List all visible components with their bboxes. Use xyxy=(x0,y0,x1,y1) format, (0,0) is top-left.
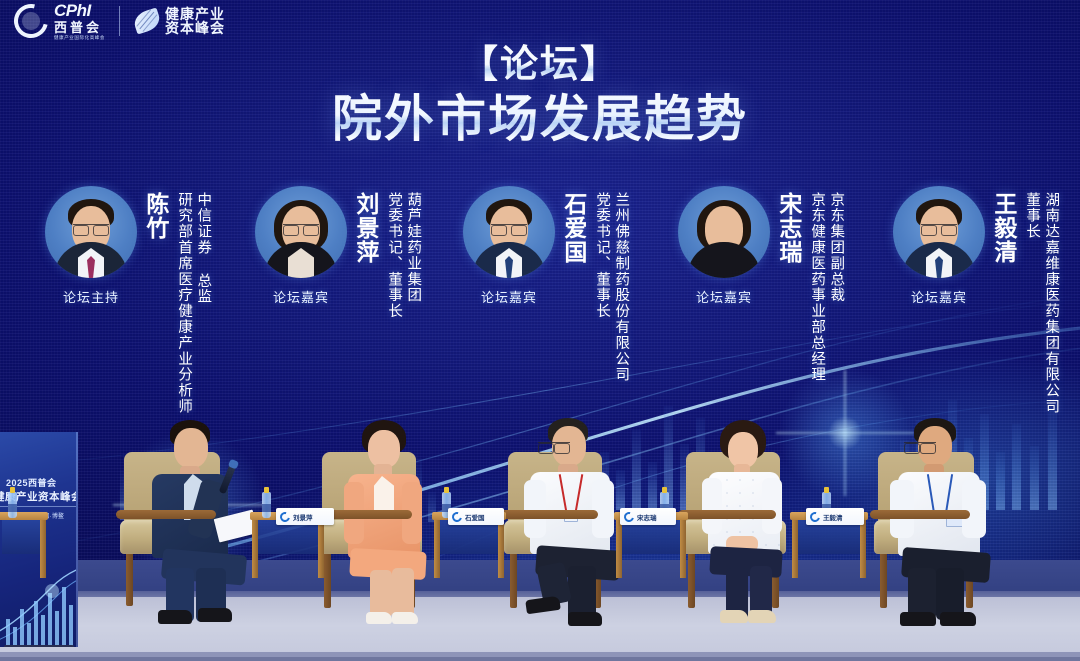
health-summit-line2: 资本峰会 xyxy=(165,21,225,36)
panelist-org-line-4-1: 董事长 xyxy=(1023,192,1040,415)
cphi-ring-logo-icon xyxy=(8,0,55,45)
panelist-photo-0 xyxy=(45,186,137,278)
forum-title-block: 【论坛】 院外市场发展趋势 xyxy=(0,44,1080,147)
panelist-org-line-2-1: 党委书记、董事长 xyxy=(593,192,610,383)
panelist-titles-3: 京东集团副总裁 京东健康医药事业部总经理 xyxy=(808,192,844,383)
chair-arm-3 xyxy=(678,510,776,519)
banner-line1: 2025西普会 xyxy=(6,476,78,489)
panelist-org-line-1-1: 党委书记、董事长 xyxy=(385,192,402,319)
panelist-role-2: 论坛嘉宾 xyxy=(463,287,555,306)
panelist-name-2: 石爱国 xyxy=(561,192,585,264)
panelist-org-line-0-1: 研究部首席医疗健康产业分析师 xyxy=(175,192,192,415)
nameplate-text-0: 刘景萍 xyxy=(293,512,313,522)
panelist-titles-2: 兰州佛慈制药股份有限公司 党委书记、董事长 xyxy=(593,192,629,383)
health-summit-logo: 健康产业 资本峰会 xyxy=(134,7,225,36)
forum-title-line2: 院外市场发展趋势 xyxy=(0,92,1080,147)
chair-leg-2a xyxy=(510,552,517,608)
nameplate-text-1: 石爱国 xyxy=(465,512,485,522)
panelist-photo-3 xyxy=(678,186,770,278)
nameplate-text-2: 宋志瑞 xyxy=(637,512,657,522)
nameplate-2: 宋志瑞 xyxy=(620,508,676,525)
panelist-card-4: 论坛嘉宾 王毅清 湖南达嘉维康医药集团有限公司 董事长 xyxy=(893,186,985,306)
water-bottle-0 xyxy=(262,492,271,518)
health-summit-line1: 健康产业 xyxy=(165,7,225,22)
panelist-photo-1 xyxy=(255,186,347,278)
cphi-logo-cn: 西普会 xyxy=(54,21,105,34)
leaf-logo-icon xyxy=(132,8,163,35)
carpet-front-edge xyxy=(0,657,1080,661)
panelist-org-line-2-0: 兰州佛慈制药股份有限公司 xyxy=(612,192,629,383)
chair-arm-2 xyxy=(500,510,598,519)
chair-leg-4a xyxy=(880,552,887,608)
logo-divider xyxy=(119,6,120,36)
panelist-card-row: 论坛主持 陈竹 中信证券 总监 研究部首席医疗健康产业分析师 论坛嘉宾 刘景萍 xyxy=(0,186,1080,426)
panelist-card-1: 论坛嘉宾 刘景萍 葫芦娃药业集团 党委书记、董事长 xyxy=(255,186,347,306)
conference-stage-photo: CPhI 西普会 健康产业国际化高峰会 健康产业 资本峰会 【论坛】 院外市场发… xyxy=(0,0,1080,661)
nameplate-1: 石爱国 xyxy=(448,508,504,525)
nameplate-logo-icon-1 xyxy=(450,510,464,524)
panelist-titles-4: 湖南达嘉维康医药集团有限公司 董事长 xyxy=(1023,192,1059,415)
panelist-name-4: 王毅清 xyxy=(991,192,1015,264)
panelist-role-3: 论坛嘉宾 xyxy=(678,287,770,306)
event-logo-bar: CPhI 西普会 健康产业国际化高峰会 健康产业 资本峰会 xyxy=(14,2,225,41)
panelist-card-2: 论坛嘉宾 石爱国 兰州佛慈制药股份有限公司 党委书记、董事长 xyxy=(463,186,555,306)
cphi-logo-en: CPhI xyxy=(54,2,105,19)
panelist-photo-4 xyxy=(893,186,985,278)
nameplate-text-3: 王毅清 xyxy=(823,512,843,522)
chair-leg-3a xyxy=(688,552,695,608)
panelist-titles-0: 中信证券 总监 研究部首席医疗健康产业分析师 xyxy=(175,192,211,415)
nameplate-3: 王毅清 xyxy=(806,508,864,525)
panelist-name-3: 宋志瑞 xyxy=(776,192,800,264)
water-bottle-left xyxy=(8,492,17,518)
panelist-card-3: 论坛嘉宾 宋志瑞 京东集团副总裁 京东健康医药事业部总经理 xyxy=(678,186,770,306)
nameplate-0: 刘景萍 xyxy=(276,508,334,525)
chair-leg-0a xyxy=(126,552,133,606)
side-table-left-edge xyxy=(0,512,48,578)
cphi-logo-sub: 健康产业国际化高峰会 xyxy=(54,36,105,41)
panelist-org-line-0-0: 中信证券 总监 xyxy=(194,192,211,415)
nameplate-logo-icon-0 xyxy=(278,510,292,524)
panelist-name-1: 刘景萍 xyxy=(353,192,377,264)
nameplate-logo-icon-2 xyxy=(622,510,636,524)
banner-stand xyxy=(4,645,74,647)
panelist-titles-1: 葫芦娃药业集团 党委书记、董事长 xyxy=(385,192,421,319)
panelist-photo-2 xyxy=(463,186,555,278)
panelist-name-0: 陈竹 xyxy=(143,192,167,240)
panelist-card-0: 论坛主持 陈竹 中信证券 总监 研究部首席医疗健康产业分析师 xyxy=(45,186,137,306)
panelist-org-line-4-0: 湖南达嘉维康医药集团有限公司 xyxy=(1042,192,1059,415)
nameplate-logo-icon-3 xyxy=(808,510,822,524)
chair-arm-4 xyxy=(870,510,970,519)
panelist-org-line-3-1: 京东健康医药事业部总经理 xyxy=(808,192,825,383)
panelist-role-0: 论坛主持 xyxy=(45,287,137,306)
panelist-org-line-3-0: 京东集团副总裁 xyxy=(827,192,844,383)
panelist-org-line-1-0: 葫芦娃药业集团 xyxy=(404,192,421,319)
forum-title-line1: 【论坛】 xyxy=(0,44,1080,88)
panelist-role-1: 论坛嘉宾 xyxy=(255,287,347,306)
cphi-logo: CPhI 西普会 健康产业国际化高峰会 xyxy=(14,2,105,41)
panelist-role-4: 论坛嘉宾 xyxy=(893,287,985,306)
chair-arm-0 xyxy=(116,510,216,519)
